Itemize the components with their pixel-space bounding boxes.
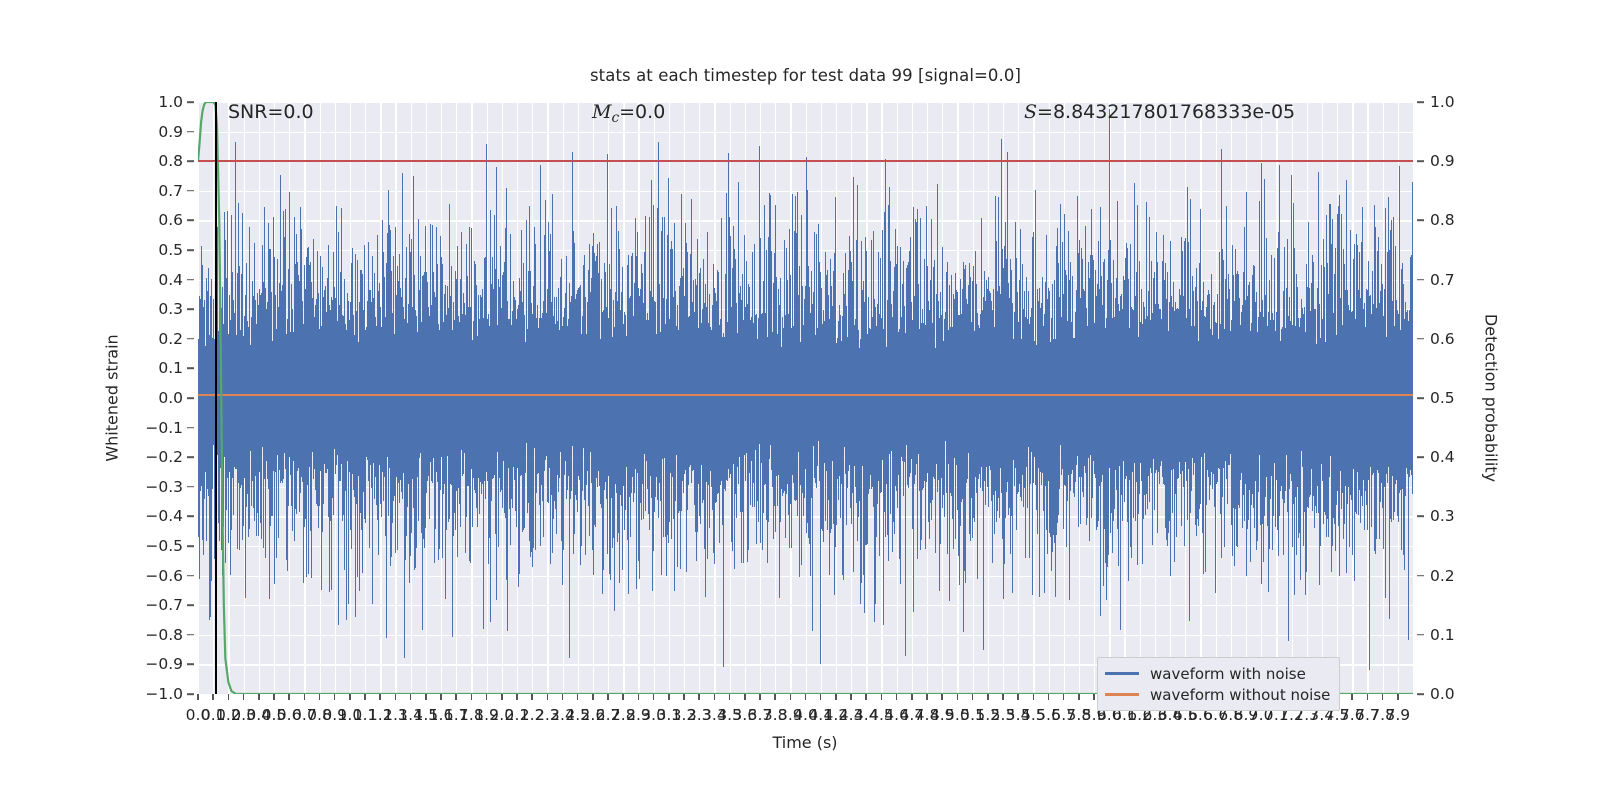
x-tick-mark	[395, 694, 397, 700]
x-tick-mark	[622, 694, 624, 700]
y-tick-mark-right	[1417, 456, 1424, 458]
annotation-statistic: S=8.843217801768333e-05	[1024, 101, 1295, 123]
y-tick-mark-left	[187, 131, 194, 133]
x-tick-mark	[258, 694, 260, 700]
figure-canvas: stats at each timestep for test data 99 …	[0, 0, 1600, 800]
x-tick-mark	[288, 694, 290, 700]
y-tick-label-right: 0.7	[1430, 271, 1455, 289]
y-tick-mark-left	[187, 308, 194, 310]
annotation-snr: SNR=0.0	[228, 101, 314, 123]
x-tick-mark	[744, 694, 746, 700]
x-tick-mark	[790, 694, 792, 700]
x-tick-mark	[319, 694, 321, 700]
y-tick-mark-left	[187, 486, 194, 488]
y-tick-mark-left	[187, 279, 194, 281]
y-tick-mark-right	[1417, 634, 1424, 636]
x-tick-mark	[471, 694, 473, 700]
y-tick-label-left: −0.9	[145, 655, 183, 673]
legend: waveform with noise waveform without noi…	[1097, 657, 1340, 711]
chart-title: stats at each timestep for test data 99 …	[198, 66, 1413, 85]
x-tick-mark	[1093, 694, 1095, 700]
y-tick-label-left: 0.5	[158, 241, 183, 259]
x-tick-mark	[228, 694, 230, 700]
y-tick-label-right: 0.2	[1430, 567, 1455, 585]
y-tick-label-left: −0.6	[145, 567, 183, 585]
x-tick-mark	[304, 694, 306, 700]
y-tick-label-right: 0.3	[1430, 507, 1455, 525]
y-tick-mark-left	[187, 427, 194, 429]
x-tick-mark	[896, 694, 898, 700]
y-tick-mark-right	[1417, 575, 1424, 577]
x-tick-mark	[638, 694, 640, 700]
y-tick-mark-left	[187, 397, 194, 399]
x-axis-label: Time (s)	[772, 733, 837, 752]
legend-label-without-noise: waveform without noise	[1150, 686, 1330, 704]
x-tick-mark	[911, 694, 913, 700]
x-tick-mark	[653, 694, 655, 700]
x-tick-mark	[850, 694, 852, 700]
x-tick-mark	[714, 694, 716, 700]
x-tick-mark	[1033, 694, 1035, 700]
legend-label-with-noise: waveform with noise	[1150, 665, 1306, 683]
y-tick-label-left: −0.3	[145, 478, 183, 496]
x-tick-mark	[957, 694, 959, 700]
y-tick-label-right: 0.6	[1430, 330, 1455, 348]
y-tick-label-left: 0.1	[158, 359, 183, 377]
y-tick-label-left: 0.4	[158, 271, 183, 289]
series-merger-marker	[198, 102, 1413, 694]
annotation-s-symbol: S	[1024, 101, 1037, 123]
y-tick-mark-left	[187, 634, 194, 636]
y-tick-mark-right	[1417, 693, 1424, 695]
y-tick-mark-left	[187, 604, 194, 606]
y-tick-mark-right	[1417, 338, 1424, 340]
x-tick-mark	[516, 694, 518, 700]
x-tick-mark	[987, 694, 989, 700]
x-tick-mark	[577, 694, 579, 700]
x-tick-mark	[1017, 694, 1019, 700]
x-tick-mark	[349, 694, 351, 700]
x-tick-mark	[668, 694, 670, 700]
x-tick-mark	[607, 694, 609, 700]
x-tick-mark	[197, 694, 199, 700]
y-tick-mark-left	[187, 220, 194, 222]
x-tick-mark	[1063, 694, 1065, 700]
y-tick-mark-right	[1417, 397, 1424, 399]
y-tick-mark-left	[187, 575, 194, 577]
y-tick-label-right: 0.1	[1430, 626, 1455, 644]
y-tick-label-right: 1.0	[1430, 93, 1455, 111]
y-tick-mark-right	[1417, 516, 1424, 518]
y-tick-mark-left	[187, 693, 194, 695]
y-tick-mark-right	[1417, 101, 1424, 103]
y-tick-label-left: −1.0	[145, 685, 183, 703]
annotation-chirp-mass: Mc=0.0	[592, 101, 665, 126]
x-tick-mark	[1397, 694, 1399, 700]
x-tick-mark	[1367, 694, 1369, 700]
y-tick-mark-left	[187, 456, 194, 458]
y-tick-label-left: 0.7	[158, 182, 183, 200]
y-tick-mark-right	[1417, 220, 1424, 222]
annotation-mc-value: =0.0	[619, 101, 665, 123]
y-tick-mark-right	[1417, 160, 1424, 162]
y-tick-mark-right	[1417, 279, 1424, 281]
x-tick-mark	[926, 694, 928, 700]
merger-vertical-line	[215, 102, 217, 694]
y-tick-label-right: 0.8	[1430, 211, 1455, 229]
y-tick-label-right: 0.9	[1430, 152, 1455, 170]
y-tick-mark-left	[187, 664, 194, 666]
y-tick-label-right: 0.4	[1430, 448, 1455, 466]
y-tick-label-right: 0.0	[1430, 685, 1455, 703]
x-tick-mark	[364, 694, 366, 700]
y-tick-label-left: −0.8	[145, 626, 183, 644]
y-tick-mark-left	[187, 545, 194, 547]
x-tick-mark	[941, 694, 943, 700]
annotation-mc-subscript: c	[611, 110, 619, 126]
y-tick-label-left: −0.1	[145, 419, 183, 437]
x-tick-mark	[334, 694, 336, 700]
y-tick-mark-left	[187, 516, 194, 518]
y-tick-label-left: 0.6	[158, 211, 183, 229]
annotation-s-value: =8.843217801768333e-05	[1037, 101, 1295, 123]
legend-swatch-with-noise	[1105, 672, 1139, 674]
plot-area	[198, 102, 1413, 694]
x-tick-mark	[425, 694, 427, 700]
y-tick-label-left: 1.0	[158, 93, 183, 111]
x-tick-mark	[759, 694, 761, 700]
y-tick-label-left: 0.3	[158, 300, 183, 318]
y-tick-mark-left	[187, 249, 194, 251]
y-tick-label-left: 0.2	[158, 330, 183, 348]
y-tick-label-left: 0.0	[158, 389, 183, 407]
x-tick-mark	[972, 694, 974, 700]
annotation-mc-symbol: M	[592, 101, 611, 123]
x-tick-mark	[562, 694, 564, 700]
y-axis-left-label: Whitened strain	[103, 334, 122, 461]
x-tick-mark	[1002, 694, 1004, 700]
legend-item-with-noise: waveform with noise	[1105, 663, 1330, 684]
x-tick-mark	[501, 694, 503, 700]
x-tick-mark	[1382, 694, 1384, 700]
y-tick-mark-left	[187, 101, 194, 103]
x-tick-mark	[698, 694, 700, 700]
x-tick-mark	[379, 694, 381, 700]
y-tick-label-right: 0.5	[1430, 389, 1455, 407]
legend-swatch-without-noise	[1105, 693, 1139, 695]
x-tick-mark	[592, 694, 594, 700]
y-tick-label-left: 0.9	[158, 123, 183, 141]
x-tick-mark	[729, 694, 731, 700]
y-tick-label-left: −0.7	[145, 596, 183, 614]
x-tick-mark	[486, 694, 488, 700]
x-tick-mark	[820, 694, 822, 700]
y-axis-right-label: Detection probability	[1482, 314, 1501, 482]
x-tick-mark	[774, 694, 776, 700]
y-tick-label-left: −0.2	[145, 448, 183, 466]
x-tick-mark	[531, 694, 533, 700]
y-tick-label-left: 0.8	[158, 152, 183, 170]
x-tick-mark	[683, 694, 685, 700]
x-tick-mark	[865, 694, 867, 700]
x-tick-mark	[243, 694, 245, 700]
x-tick-mark	[212, 694, 214, 700]
x-tick-mark	[273, 694, 275, 700]
x-tick-mark	[1351, 694, 1353, 700]
y-tick-mark-left	[187, 338, 194, 340]
y-tick-mark-left	[187, 368, 194, 370]
legend-item-without-noise: waveform without noise	[1105, 684, 1330, 705]
x-tick-mark	[835, 694, 837, 700]
x-tick-mark	[547, 694, 549, 700]
y-tick-mark-left	[187, 160, 194, 162]
y-tick-label-left: −0.5	[145, 537, 183, 555]
x-tick-mark	[805, 694, 807, 700]
x-tick-mark	[440, 694, 442, 700]
x-tick-mark	[410, 694, 412, 700]
x-tick-mark	[455, 694, 457, 700]
x-tick-mark	[881, 694, 883, 700]
x-tick-label: 7.9	[1385, 706, 1410, 724]
y-tick-label-left: −0.4	[145, 507, 183, 525]
x-tick-mark	[1048, 694, 1050, 700]
y-tick-mark-left	[187, 190, 194, 192]
x-tick-mark	[1078, 694, 1080, 700]
